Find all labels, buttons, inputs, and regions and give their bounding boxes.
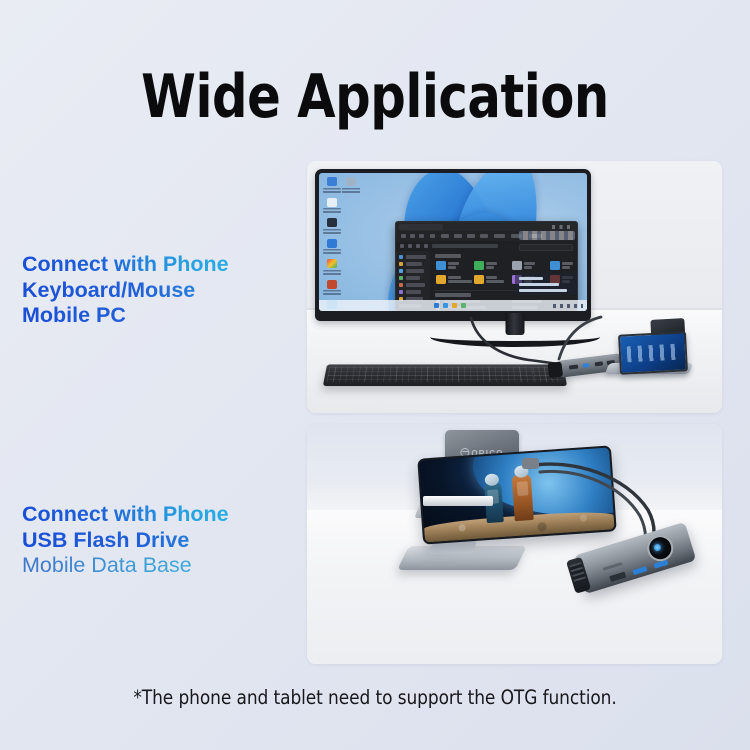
window-titlebar (396, 222, 577, 231)
feature-text-pc: Connect with Phone Keyboard/Mouse Mobile… (22, 252, 229, 329)
feature-usb-line3: Mobile Data Base (22, 553, 229, 579)
taskbar-icon (443, 303, 448, 308)
window-controls[interactable] (552, 225, 574, 229)
folder-tile (512, 261, 522, 270)
volume-osd (519, 231, 575, 240)
folder-tile (436, 261, 446, 270)
desktop-icon (322, 238, 342, 257)
feature-usb-line2: USB Flash Drive (22, 528, 229, 554)
section-header-quick-access (435, 254, 461, 258)
stand-phone-lip (423, 496, 493, 506)
desktop-icon (322, 176, 342, 195)
desktop-icon (322, 279, 342, 298)
feature-pc-line1: Connect with Phone (22, 252, 229, 278)
wide-application-page: Wide Application Connect with Phone Keyb… (0, 0, 750, 750)
scene-card-phone: ORICO (307, 424, 722, 664)
desktop-icon (322, 197, 342, 216)
page-title: Wide Application (30, 62, 720, 132)
taskbar-icon (452, 303, 457, 308)
taskbar[interactable] (319, 300, 587, 311)
folder-tile (474, 275, 484, 284)
folder-tile (550, 261, 560, 270)
tablet-top-scene (618, 331, 688, 375)
start-icon (434, 303, 439, 308)
section-header-recent (435, 293, 471, 297)
feature-text-usb: Connect with Phone USB Flash Drive Mobil… (22, 502, 229, 579)
footer-note: *The phone and tablet need to support th… (11, 686, 739, 709)
desktop-icon (322, 258, 342, 277)
monitor-screen (319, 173, 587, 311)
address-path (432, 244, 498, 248)
folder-tile (474, 261, 484, 270)
usb-c-connector (522, 458, 539, 469)
folder-tile (436, 275, 446, 284)
feature-pc-line2: Keyboard/Mouse (22, 278, 229, 304)
feature-pc-line3: Mobile PC (22, 303, 229, 329)
feature-usb-line1: Connect with Phone (22, 502, 229, 528)
folding-stand-top (607, 337, 691, 377)
scene-card-monitor (307, 161, 722, 413)
monitor (315, 169, 591, 321)
taskbar-icon (461, 303, 466, 308)
explorer-tab[interactable] (399, 224, 443, 230)
desktop-widget (515, 273, 577, 295)
folding-stand-bottom: ORICO (395, 430, 540, 590)
system-tray[interactable] (553, 304, 583, 308)
desktop-icon-column (322, 176, 344, 311)
search-icon[interactable] (519, 244, 573, 251)
desktop-icon-recycle-bin (341, 176, 361, 195)
desktop-icon (322, 217, 342, 236)
